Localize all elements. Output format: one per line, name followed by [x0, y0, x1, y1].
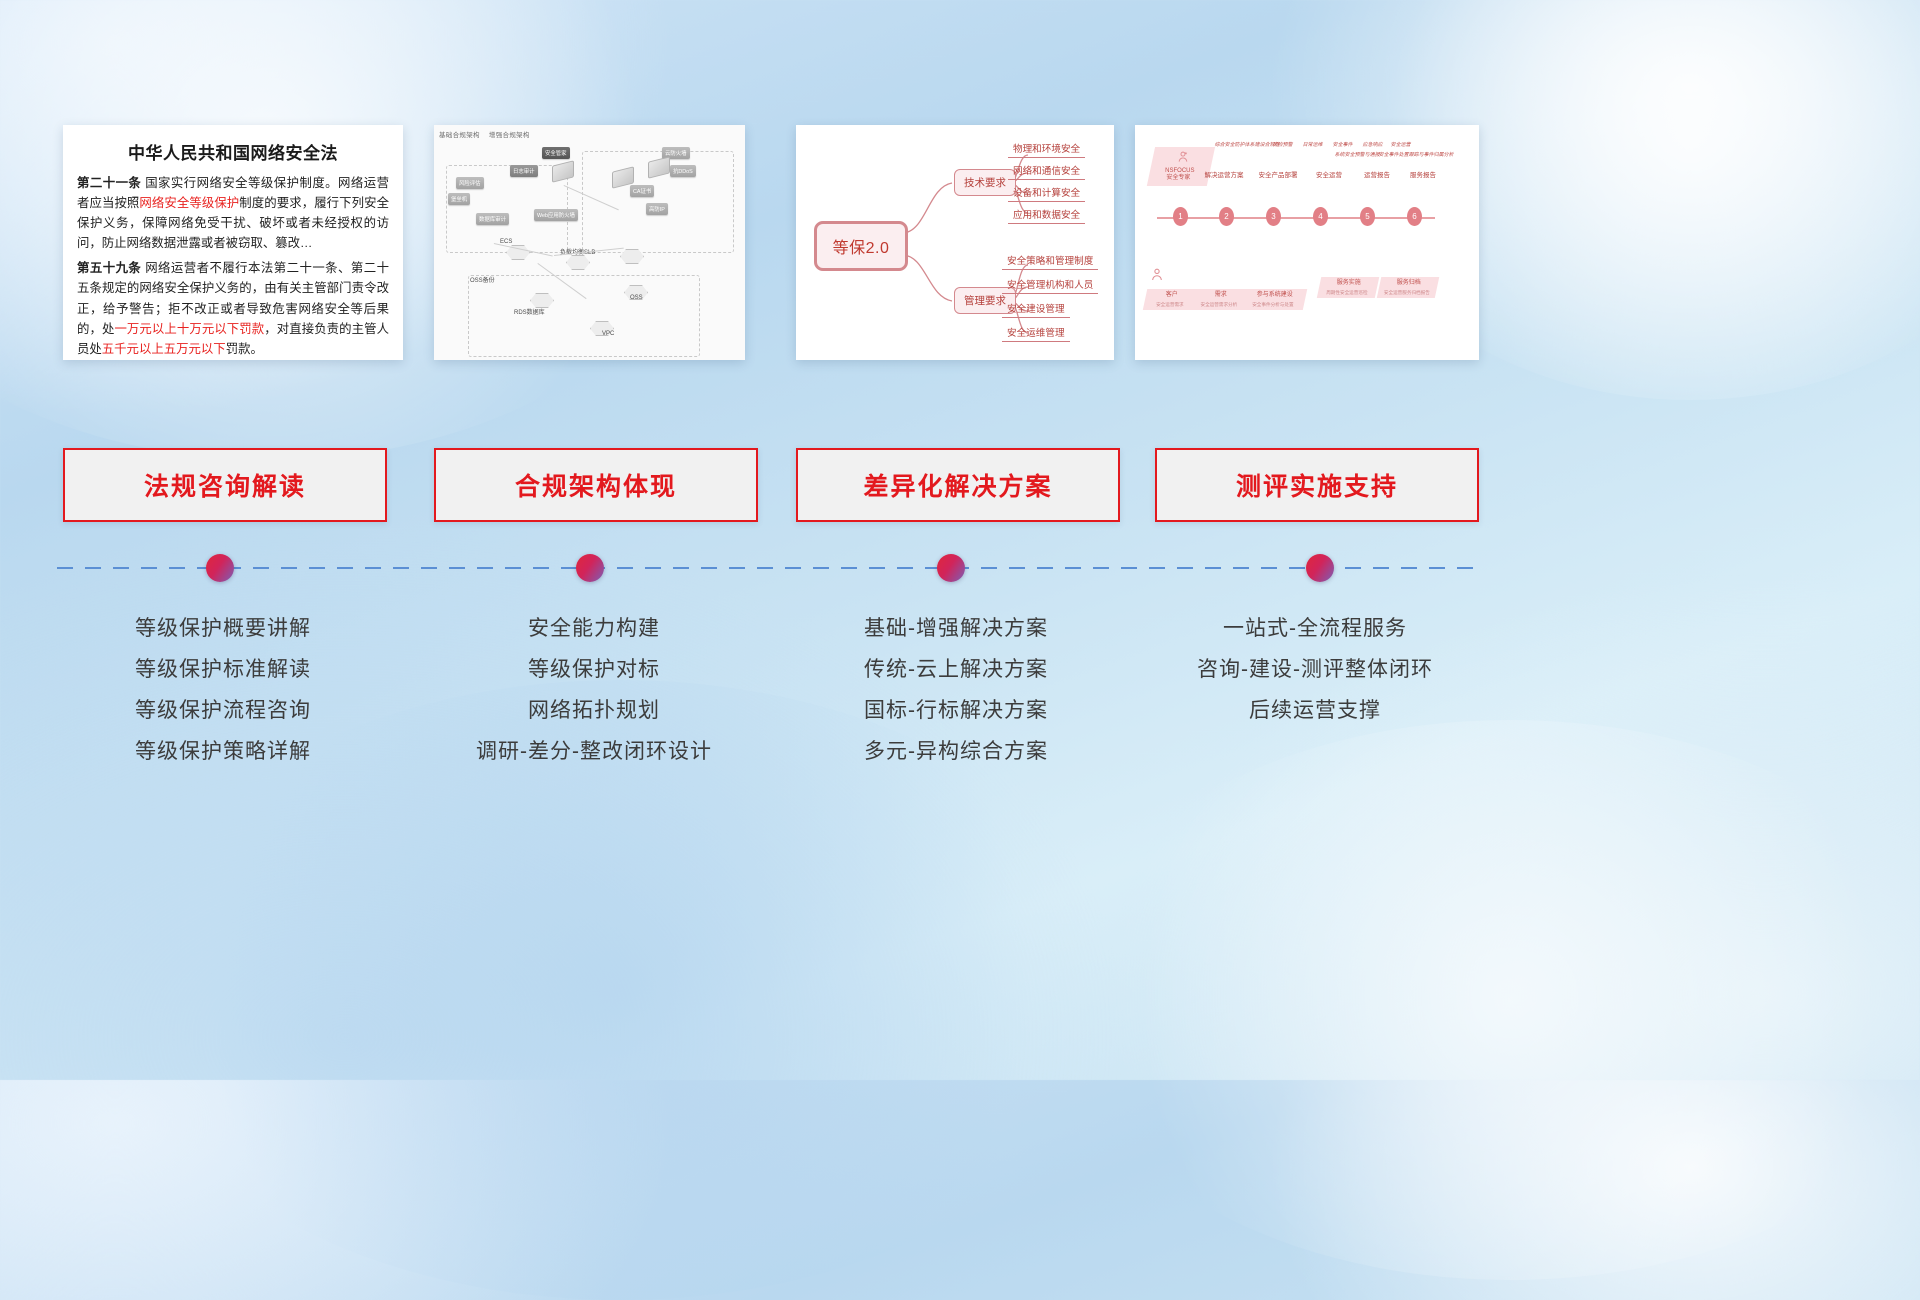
- roadmap-top-tag-4: 应急响应: [1362, 141, 1384, 148]
- title-label-4: 测评实施支持: [1236, 467, 1398, 503]
- roadmap-step-3: 3: [1266, 207, 1281, 226]
- architecture-label-rds: RDS数据库: [514, 307, 545, 316]
- roadmap-stage-0: 解决运营方案: [1197, 169, 1251, 179]
- roadmap-bottom-tag-4: 服务归档 安全运营服务归档报告: [1377, 277, 1440, 298]
- list-item: 传统-云上解决方案: [796, 649, 1116, 690]
- architecture-header: 基础合规架构 增强合规架构: [439, 129, 537, 139]
- mindmap-leaf-m0: 安全策略和管理制度: [1002, 253, 1098, 270]
- architecture-node-1: 日志审计: [510, 165, 538, 177]
- list-item: 等级保护对标: [434, 649, 754, 690]
- architecture-node-4: 数据库审计: [476, 213, 509, 225]
- list-item: 等级保护流程咨询: [63, 690, 383, 731]
- roadmap-bottom-tag-3: 服务实施 周期性安全运营巡检: [1317, 277, 1380, 298]
- service-list-3: 基础-增强解决方案 传统-云上解决方案 国标-行标解决方案 多元-异构综合方案: [796, 608, 1116, 772]
- mindmap-root-node: 等保2.0: [814, 221, 908, 271]
- title-label-2: 合规架构体现: [515, 467, 677, 503]
- roadmap-step-2: 2: [1219, 207, 1234, 226]
- law-article-59-number: 第五十九条: [77, 261, 141, 275]
- architecture-node-2: 风险评估: [456, 177, 484, 189]
- architecture-node-5: Web应用防火墙: [534, 209, 578, 221]
- roadmap-stage-4: 服务报告: [1399, 169, 1447, 179]
- mindmap-leaf-t2: 设备和计算安全: [1008, 185, 1085, 202]
- architecture-node-8: 抗DDoS: [670, 165, 696, 177]
- architecture-label-vpc: VPC: [602, 331, 614, 337]
- roadmap-client-icon: [1149, 267, 1165, 288]
- architecture-hex-2: [566, 255, 590, 270]
- roadmap-bottom-title-4: 服务归档: [1384, 280, 1434, 288]
- roadmap-top-tag-1: 风险预警: [1272, 141, 1294, 148]
- architecture-header-enhanced: 增强合规架构: [489, 132, 530, 139]
- roadmap-bottom-title-2: 参与系统建设: [1248, 292, 1302, 300]
- mindmap-leaf-m2: 安全建设管理: [1002, 301, 1070, 318]
- timeline-dot-4: [1306, 554, 1334, 582]
- roadmap-step-6: 6: [1407, 207, 1422, 226]
- timeline-dot-2: [576, 554, 604, 582]
- roadmap-top-tag-6: 系统安全预警与通报: [1334, 151, 1381, 158]
- list-item: 调研-差分-整改闭环设计: [434, 731, 754, 772]
- card-architecture-diagram: 基础合规架构 增强合规架构 安全管家 日志审计 风险评估 堡垒机 数据库审计 W…: [434, 125, 745, 360]
- roadmap-top-tag-3: 安全事件: [1332, 141, 1354, 148]
- list-item: 咨询-建设-测评整体闭环: [1155, 649, 1475, 690]
- roadmap-step-5: 5: [1360, 207, 1375, 226]
- mindmap-canvas: 等保2.0 技术要求 管理要求 物理和环境安全 网络和通信安全 设备和计算安全 …: [796, 125, 1114, 360]
- law-article-21: 第二十一条 国家实行网络安全等级保护制度。网络运营者应当按照网络安全等级保护制度…: [77, 173, 389, 253]
- roadmap-step-1: 1: [1173, 207, 1188, 226]
- service-list-1: 等级保护概要讲解 等级保护标准解读 等级保护流程咨询 等级保护策略详解: [63, 608, 383, 772]
- slide-stage: 中华人民共和国网络安全法 第二十一条 国家实行网络安全等级保护制度。网络运营者应…: [0, 0, 1920, 1080]
- roadmap-top-tag-5: 安全运营: [1390, 141, 1412, 148]
- service-list-4: 一站式-全流程服务 咨询-建设-测评整体闭环 后续运营支撑: [1155, 608, 1475, 731]
- roadmap-bottom-title-3: 服务实施: [1324, 280, 1374, 288]
- list-item: 后续运营支撑: [1155, 690, 1475, 731]
- list-item: 多元-异构综合方案: [796, 731, 1116, 772]
- mindmap-leaf-m1: 安全管理机构和人员: [1002, 277, 1098, 294]
- roadmap-top-tag-2: 日常运维: [1302, 141, 1324, 148]
- list-item: 等级保护策略详解: [63, 731, 383, 772]
- architecture-label-backup: OSS备份: [470, 275, 495, 284]
- list-item: 等级保护概要讲解: [63, 608, 383, 649]
- roadmap-canvas: NSFOCUS 安全专家 综合安全防护体系建设合规性 风险预警 日常运维 安全事…: [1135, 125, 1479, 360]
- architecture-node-3: 堡垒机: [448, 193, 470, 205]
- law-document-body: 中华人民共和国网络安全法 第二十一条 国家实行网络安全等级保护制度。网络运营者应…: [63, 125, 403, 360]
- roadmap-bottom-sub-3: 周期性安全运营巡检: [1322, 290, 1372, 296]
- timeline-dashed-line: [57, 567, 1483, 569]
- title-box-assessment-support[interactable]: 测评实施支持: [1155, 448, 1479, 522]
- architecture-header-basic: 基础合规架构: [439, 132, 480, 139]
- roadmap-bottom-title-0: 客户: [1150, 292, 1194, 300]
- roadmap-axis-line: [1157, 217, 1435, 219]
- architecture-node-6: CA证书: [630, 185, 654, 197]
- roadmap-bottom-sub-2: 安全事件分析与处置: [1246, 302, 1300, 308]
- law-article-59-text-c: 罚款。: [226, 342, 263, 356]
- roadmap-bottom-sub-0: 安全运营需求: [1148, 302, 1192, 308]
- law-title: 中华人民共和国网络安全法: [77, 139, 389, 164]
- title-label-1: 法规咨询解读: [144, 467, 306, 503]
- roadmap-step-4: 4: [1313, 207, 1328, 226]
- roadmap-stage-3: 运营报告: [1353, 169, 1401, 179]
- architecture-cube-1: [552, 160, 574, 182]
- architecture-canvas: 基础合规架构 增强合规架构 安全管家 日志审计 风险评估 堡垒机 数据库审计 W…: [434, 125, 745, 360]
- timeline-dot-1: [206, 554, 234, 582]
- law-article-21-number: 第二十一条: [77, 176, 141, 190]
- card-roadmap: NSFOCUS 安全专家 综合安全防护体系建设合规性 风险预警 日常运维 安全事…: [1135, 125, 1479, 360]
- title-label-3: 差异化解决方案: [863, 467, 1052, 503]
- law-article-59: 第五十九条 网络运营者不履行本法第二十一条、第二十五条规定的网络安全保护义务的，…: [77, 258, 389, 358]
- roadmap-stage-2: 安全运营: [1305, 169, 1353, 179]
- law-article-21-highlight: 网络安全等级保护: [139, 196, 239, 210]
- mindmap-leaf-t1: 网络和通信安全: [1008, 163, 1085, 180]
- service-list-2: 安全能力构建 等级保护对标 网络拓扑规划 调研-差分-整改闭环设计: [434, 608, 754, 772]
- list-item: 国标-行标解决方案: [796, 690, 1116, 731]
- mindmap-leaf-t0: 物理和环境安全: [1008, 141, 1085, 158]
- roadmap-bottom-sub-4: 安全运营服务归档报告: [1382, 290, 1432, 296]
- mindmap-leaf-t3: 应用和数据安全: [1008, 207, 1085, 224]
- roadmap-stage-1: 安全产品部署: [1251, 169, 1305, 179]
- list-item: 基础-增强解决方案: [796, 608, 1116, 649]
- architecture-node-0: 安全管家: [542, 147, 570, 159]
- timeline-dot-3: [937, 554, 965, 582]
- card-mindmap: 等保2.0 技术要求 管理要求 物理和环境安全 网络和通信安全 设备和计算安全 …: [796, 125, 1114, 360]
- title-box-compliance-architecture[interactable]: 合规架构体现: [434, 448, 758, 522]
- mindmap-leaf-m3: 安全运维管理: [1002, 325, 1070, 342]
- roadmap-top-tag-7: 安全事件处置跟踪与事件归属分析: [1378, 151, 1455, 158]
- expert-person-icon: [1176, 150, 1190, 164]
- roadmap-top-tag-0: 综合安全防护体系建设合规性: [1214, 141, 1281, 148]
- title-box-differentiated-solution[interactable]: 差异化解决方案: [796, 448, 1120, 522]
- architecture-region-bottom: [468, 275, 700, 357]
- architecture-node-7: 高防IP: [646, 203, 668, 215]
- list-item: 网络拓扑规划: [434, 690, 754, 731]
- list-item: 等级保护标准解读: [63, 649, 383, 690]
- roadmap-bottom-title-1: 需求: [1198, 292, 1244, 300]
- law-article-59-highlight-b: 五千元以上五万元以下: [102, 342, 226, 356]
- list-item: 一站式-全流程服务: [1155, 608, 1475, 649]
- list-item: 安全能力构建: [434, 608, 754, 649]
- roadmap-bottom-sub-1: 安全运营需求分析: [1196, 302, 1242, 308]
- roadmap-bottom-tag-2: 参与系统建设 安全事件分析与处置: [1241, 289, 1308, 310]
- title-box-regulation-consulting[interactable]: 法规咨询解读: [63, 448, 387, 522]
- mindmap-branch-technical: 技术要求: [954, 169, 1016, 196]
- card-law-document: 中华人民共和国网络安全法 第二十一条 国家实行网络安全等级保护制度。网络运营者应…: [63, 125, 403, 360]
- architecture-label-oss: OSS: [630, 295, 643, 301]
- law-article-59-highlight-a: 一万元以上十万元以下罚款: [114, 322, 264, 336]
- roadmap-expert-tag: NSFOCUS 安全专家: [1147, 147, 1215, 186]
